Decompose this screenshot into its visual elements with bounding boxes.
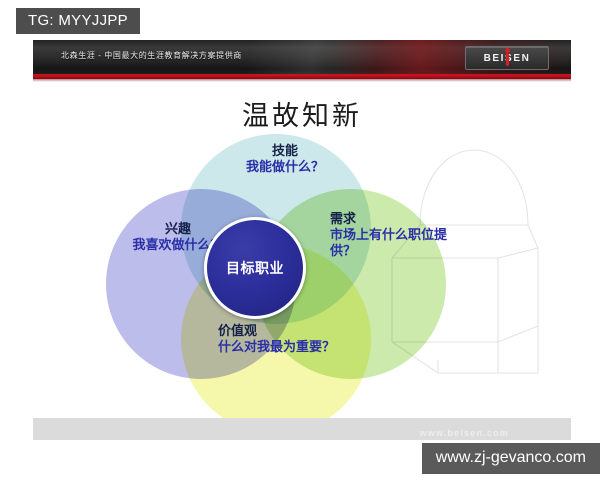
slide-screenshot: 北森生涯 - 中国最大的生涯教育解决方案提供商 BEISEN 温故知新 xyxy=(0,0,600,480)
venn-center-label: 目标职业 xyxy=(226,258,284,278)
venn-question-skill: 我能做什么？ xyxy=(210,160,360,176)
site-watermark: www.zj-gevanco.com xyxy=(422,443,600,474)
person-figure-icon xyxy=(504,48,510,68)
venn-term-values: 价值观 xyxy=(218,324,358,340)
venn-question-demand: 市场上有什么职位提供？ xyxy=(330,228,448,260)
venn-term-skill: 技能 xyxy=(210,144,360,160)
slide-header-bar: 北森生涯 - 中国最大的生涯教育解决方案提供商 BEISEN xyxy=(33,40,571,74)
venn-diagram: 技能 我能做什么？ 兴趣 我喜欢做什么？ 需求 市场上有什么职位提供？ 价值观 … xyxy=(106,134,446,434)
venn-label-skill: 技能 我能做什么？ xyxy=(210,144,360,176)
presentation-slide: 北森生涯 - 中国最大的生涯教育解决方案提供商 BEISEN 温故知新 xyxy=(33,40,571,440)
venn-center-target-career: 目标职业 xyxy=(204,217,306,319)
header-tagline: 北森生涯 - 中国最大的生涯教育解决方案提供商 xyxy=(61,50,242,61)
beisen-logo: BEISEN xyxy=(465,46,549,70)
venn-label-demand: 需求 市场上有什么职位提供？ xyxy=(330,212,448,260)
venn-term-demand: 需求 xyxy=(330,212,448,228)
beisen-site-watermark: www.beisen.com xyxy=(420,428,510,438)
venn-label-values: 价值观 什么对我最为重要？ xyxy=(218,324,358,356)
slide-body: 温故知新 技能 我能做什么？ xyxy=(33,82,571,440)
page-title: 温故知新 xyxy=(33,94,571,133)
channel-watermark: TG: MYYJJPP xyxy=(16,8,140,34)
venn-question-values: 什么对我最为重要？ xyxy=(218,340,358,356)
